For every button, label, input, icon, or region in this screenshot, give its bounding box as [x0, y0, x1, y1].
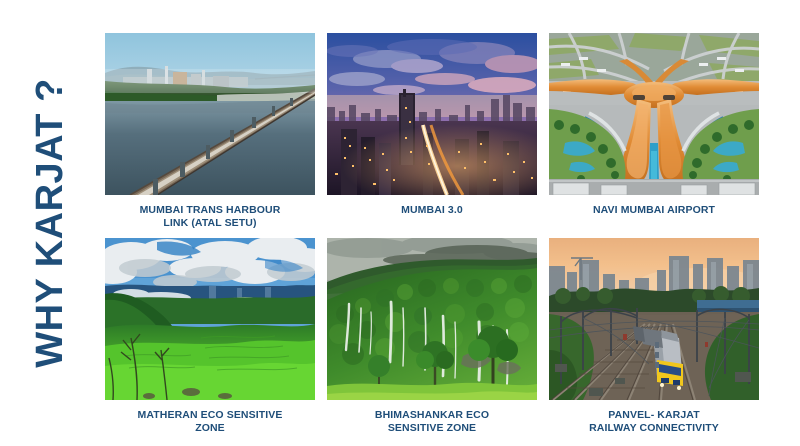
photo-mumbai-3-0 [327, 33, 537, 195]
gallery-item-panvel-karjat-railway-connectivity[interactable]: PANVEL- KARJAT RAILWAY CONNECTIVITY [549, 238, 759, 443]
gallery-item-mumbai-3-0[interactable]: MUMBAI 3.0 [327, 33, 537, 238]
photo-navi-mumbai-airport [549, 33, 759, 195]
slide-title-container: WHY KARJAT ? [0, 0, 100, 446]
gallery-item-caption: NAVI MUMBAI AIRPORT [552, 204, 757, 217]
page-title: WHY KARJAT ? [31, 78, 69, 368]
gallery-item-caption: MUMBAI TRANS HARBOUR LINK (ATAL SETU) [108, 204, 313, 231]
image-gallery: MUMBAI TRANS HARBOUR LINK (ATAL SETU) [105, 33, 760, 433]
photo-panvel-karjat-railway-connectivity [549, 238, 759, 400]
gallery-item-caption: BHIMASHANKAR ECO SENSITIVE ZONE [330, 409, 535, 436]
gallery-item-bhimashankar-eco-sensitive-zone[interactable]: BHIMASHANKAR ECO SENSITIVE ZONE [327, 238, 537, 443]
gallery-item-navi-mumbai-airport[interactable]: NAVI MUMBAI AIRPORT [549, 33, 759, 238]
gallery-item-matheran-eco-sensitive-zone[interactable]: MATHERAN ECO SENSITIVE ZONE [105, 238, 315, 443]
gallery-item-caption: MUMBAI 3.0 [330, 204, 535, 217]
gallery-item-caption: PANVEL- KARJAT RAILWAY CONNECTIVITY [552, 409, 757, 436]
gallery-item-caption: MATHERAN ECO SENSITIVE ZONE [108, 409, 313, 436]
photo-matheran-eco-sensitive-zone [105, 238, 315, 400]
photo-mumbai-trans-harbour-link [105, 33, 315, 195]
photo-bhimashankar-eco-sensitive-zone [327, 238, 537, 400]
gallery-item-mumbai-trans-harbour-link[interactable]: MUMBAI TRANS HARBOUR LINK (ATAL SETU) [105, 33, 315, 238]
